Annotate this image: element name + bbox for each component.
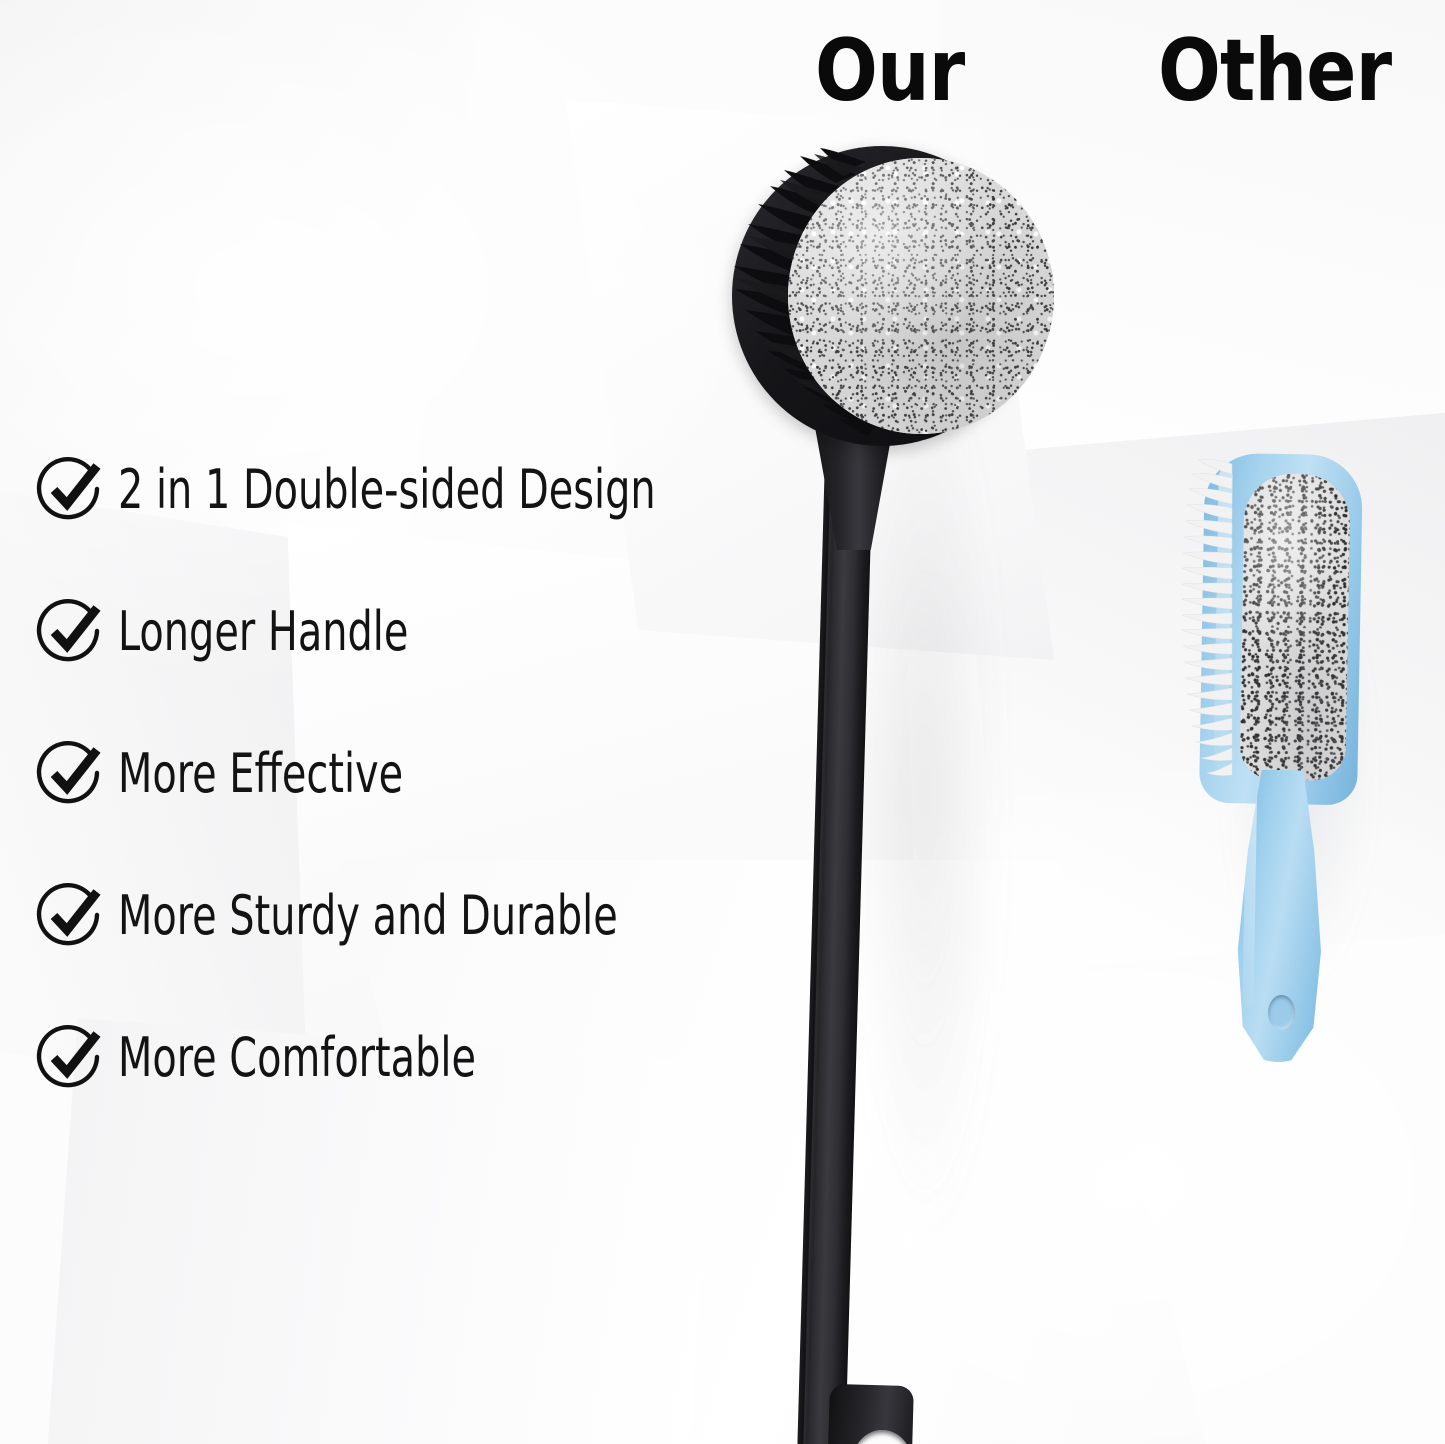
feature-list: 2 in 1 Double-sided Design Longer Handle… bbox=[34, 438, 814, 1148]
check-circle-icon bbox=[34, 737, 108, 811]
feature-label: More Comfortable bbox=[118, 1030, 476, 1087]
product-image-other bbox=[1180, 440, 1410, 1080]
feature-item: More Sturdy and Durable bbox=[34, 864, 814, 968]
check-circle-icon bbox=[34, 879, 108, 953]
check-circle-icon bbox=[34, 453, 108, 527]
pumice-stone-other bbox=[1239, 473, 1350, 781]
column-header-ours: Our bbox=[815, 28, 964, 114]
check-circle-icon bbox=[34, 595, 108, 669]
feature-item: Longer Handle bbox=[34, 580, 814, 684]
pumice-shading bbox=[788, 158, 1054, 434]
pumice-stone-ours bbox=[788, 158, 1054, 434]
feature-label: More Effective bbox=[118, 746, 403, 803]
pumice-shading bbox=[1239, 473, 1350, 781]
feature-label: Longer Handle bbox=[118, 604, 408, 661]
check-circle-icon bbox=[34, 1021, 108, 1095]
feature-label: More Sturdy and Durable bbox=[118, 888, 618, 945]
product-comparison-image: Our Other 2 in 1 Double-sided Design Lon… bbox=[0, 0, 1445, 1444]
feature-item: More Effective bbox=[34, 722, 814, 826]
column-header-other: Other bbox=[1158, 28, 1391, 114]
feature-item: 2 in 1 Double-sided Design bbox=[34, 438, 814, 542]
product-image-ours bbox=[700, 130, 1060, 1430]
feature-item: More Comfortable bbox=[34, 1006, 814, 1110]
feature-label: 2 in 1 Double-sided Design bbox=[118, 462, 656, 519]
